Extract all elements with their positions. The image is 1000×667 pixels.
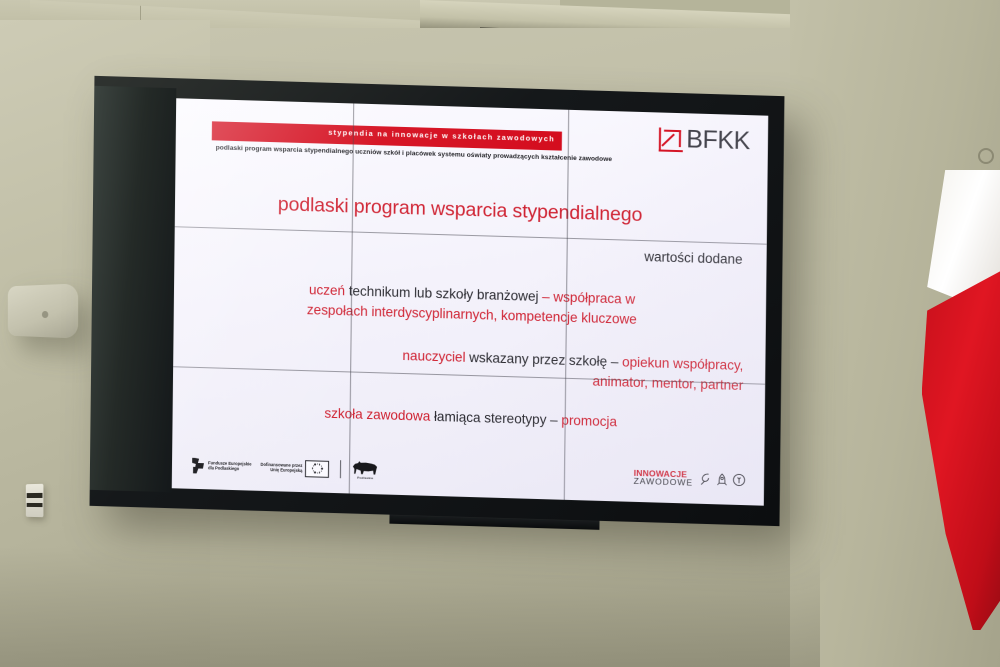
bullet-szkola-line1: szkoła zawodowa łamiąca stereotypy – pro…	[199, 400, 743, 436]
presentation-slide: stypendia na innowacje w szkołach zawodo…	[172, 98, 768, 505]
eu-funding-logo: Dofinansowane przez Unię Europejską	[260, 458, 329, 477]
eu-star	[321, 468, 323, 470]
bullet-uczen-l1-part1: uczeń	[309, 282, 349, 298]
floor-shadow	[0, 547, 820, 667]
bullet-nauczyciel: nauczyciel wskazany przez szkołę – opiek…	[199, 340, 743, 396]
eu-star	[319, 472, 321, 474]
footer-logos-left: Fundusze Europejskie dla Podlaskiego Dof…	[192, 455, 379, 480]
polish-flag	[922, 170, 1000, 630]
bullet-szkola-l1-part1: szkoła zawodowa	[324, 406, 434, 424]
eu-funding-text: Dofinansowane przez Unię Europejską	[260, 462, 302, 474]
innowacje-zawodowe-logo: INNOWACJE ZAWODOWE	[634, 469, 747, 490]
bullet-nauczyciel-l1-part2: wskazany przez szkołę –	[469, 350, 622, 370]
podlaskie-region-logo: Podlaskie	[352, 460, 378, 481]
flag-pole-finial	[978, 148, 994, 164]
bullet-nauczyciel-l1-part3: opiekun współpracy,	[622, 354, 743, 373]
bfkk-logo: BFKK	[659, 126, 750, 154]
bullet-nauczyciel-l1-part1: nauczyciel	[402, 348, 469, 365]
footer-divider	[340, 460, 341, 478]
bullet-uczen-l1-part3: – współpraca w	[542, 289, 635, 307]
magnifier-leaf-icon	[699, 472, 712, 486]
bison-silhouette-icon	[352, 460, 378, 476]
bullet-uczen-l1-part2: technikum lub szkoły branżowej	[349, 283, 543, 304]
eu-star	[313, 465, 315, 467]
bullet-uczen: uczeń technikum lub szkoły branżowej – w…	[200, 277, 744, 333]
eu-star	[312, 468, 314, 470]
light-switch[interactable]	[26, 484, 44, 517]
slide-subtitle: wartości dodane	[644, 249, 742, 267]
eu-star	[321, 466, 323, 468]
innowacje-zawodowe-text: INNOWACJE ZAWODOWE	[634, 469, 694, 488]
video-wall-screen[interactable]: stypendia na innowacje w szkołach zawodo…	[172, 98, 768, 505]
eu-star	[317, 463, 319, 465]
eu-line2: Unię Europejską	[260, 467, 302, 473]
eu-star	[314, 464, 316, 466]
slide-title: podlaski program wsparcia stypendialnego	[175, 190, 745, 230]
bullet-szkola-l1-part2: łamiąca stereotypy –	[434, 409, 562, 428]
bfkk-logo-text: BFKK	[686, 127, 750, 154]
slide-header: stypendia na innowacje w szkołach zawodo…	[193, 115, 754, 188]
bullet-szkola-l1-part3: promocja	[561, 413, 617, 430]
eu-star	[314, 472, 316, 474]
bullet-szkola: szkoła zawodowa łamiąca stereotypy – pro…	[199, 400, 743, 436]
eu-star	[313, 470, 315, 472]
eu-star	[321, 470, 323, 472]
fundusze-europejskie-logo: Fundusze Europejskie dla Podlaskiego	[192, 456, 252, 475]
header-banner-text: stypendia na innowacje w szkołach zawodo…	[328, 128, 555, 144]
eu-star	[317, 472, 319, 474]
innowacje-line2: ZAWODOWE	[634, 477, 694, 487]
video-wall-left-bezel	[90, 86, 177, 492]
lightbulb-circle-icon	[732, 473, 746, 487]
fundusze-europejskie-icon	[192, 456, 205, 473]
conference-room: stypendia na innowacje w szkołach zawodo…	[0, 0, 1000, 667]
slide-footer: Fundusze Europejskie dla Podlaskiego Dof…	[192, 441, 746, 491]
eu-flag-stars-icon	[305, 460, 329, 478]
fundusze-europejskie-text: Fundusze Europejskie dla Podlaskiego	[208, 460, 252, 472]
wall-speaker	[8, 283, 78, 338]
podlaskie-caption: Podlaskie	[357, 476, 373, 480]
innowacje-icon-set	[699, 472, 746, 487]
rocket-icon	[716, 473, 728, 487]
bfkk-arrow-icon	[659, 127, 683, 152]
flag-red-stripe	[922, 266, 1000, 630]
video-wall[interactable]: stypendia na innowacje w szkołach zawodo…	[90, 76, 785, 526]
